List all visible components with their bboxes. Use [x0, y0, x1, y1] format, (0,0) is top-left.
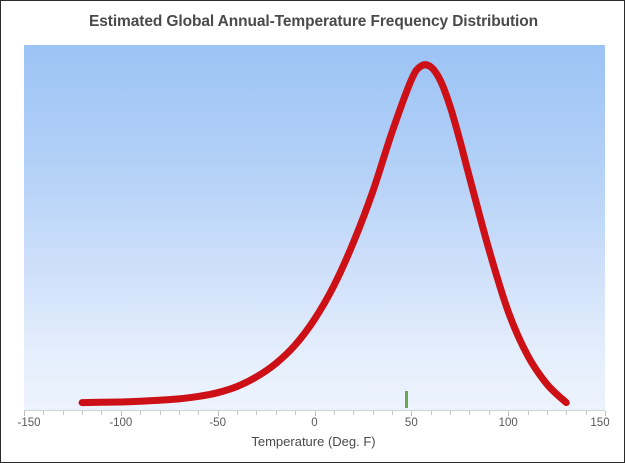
- x-axis-minor-tick: [82, 411, 83, 415]
- x-axis-minor-tick: [276, 411, 277, 415]
- x-axis-minor-tick: [237, 411, 238, 415]
- x-axis-minor-tick: [256, 411, 257, 415]
- chart-title: Estimated Global Annual-Temperature Freq…: [1, 13, 625, 31]
- x-axis-minor-tick: [198, 411, 199, 415]
- x-axis-minor-tick: [43, 411, 44, 415]
- x-axis-minor-tick: [353, 411, 354, 415]
- plot-area: [24, 45, 605, 410]
- chart-figure: Estimated Global Annual-Temperature Freq…: [0, 0, 625, 463]
- x-axis-minor-tick: [63, 411, 64, 415]
- x-axis-tick-label: 100: [488, 417, 528, 429]
- distribution-curve: [24, 45, 605, 410]
- x-axis-minor-tick: [489, 411, 490, 415]
- x-axis-major-tick: [605, 411, 606, 416]
- x-axis-tick-label: -150: [9, 417, 49, 429]
- x-axis-minor-tick: [101, 411, 102, 415]
- x-axis-minor-tick: [586, 411, 587, 415]
- x-axis-minor-tick: [431, 411, 432, 415]
- x-axis-minor-tick: [295, 411, 296, 415]
- distribution-curve-path: [82, 65, 566, 403]
- x-axis-tick-label: 50: [391, 417, 431, 429]
- x-axis-tick-label: 150: [580, 417, 620, 429]
- x-axis-tick-label: -100: [101, 417, 141, 429]
- x-axis-major-tick: [508, 411, 509, 416]
- x-axis-minor-tick: [160, 411, 161, 415]
- x-axis-minor-tick: [392, 411, 393, 415]
- x-axis-major-tick: [121, 411, 122, 416]
- x-axis-minor-tick: [547, 411, 548, 415]
- x-axis-minor-tick: [334, 411, 335, 415]
- x-axis-minor-tick: [566, 411, 567, 415]
- green-tick-marker: [405, 391, 408, 408]
- x-axis-tick-label: 0: [295, 417, 335, 429]
- x-axis-minor-tick: [450, 411, 451, 415]
- x-axis-major-tick: [411, 411, 412, 416]
- x-axis-minor-tick: [373, 411, 374, 415]
- x-axis-minor-tick: [179, 411, 180, 415]
- x-axis-minor-tick: [528, 411, 529, 415]
- x-axis-major-tick: [218, 411, 219, 416]
- x-axis-minor-tick: [140, 411, 141, 415]
- x-axis-label: Temperature (Deg. F): [1, 434, 625, 449]
- x-axis-major-tick: [24, 411, 25, 416]
- x-axis-tick-label: -50: [198, 417, 238, 429]
- x-axis-major-tick: [315, 411, 316, 416]
- x-axis-minor-tick: [469, 411, 470, 415]
